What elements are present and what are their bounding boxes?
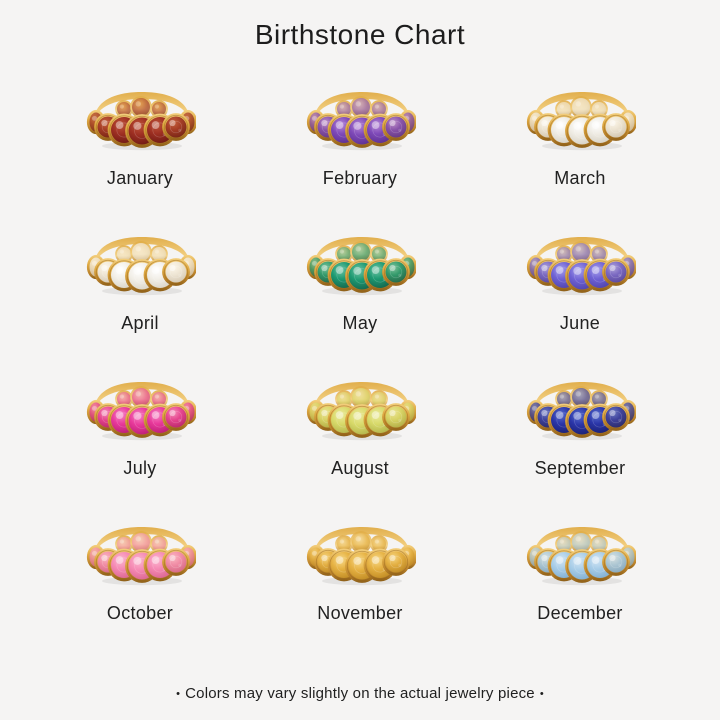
tourmaline-ring-image <box>84 515 196 589</box>
month-label: February <box>323 167 397 189</box>
birthstone-grid: January February <box>30 78 690 658</box>
ruby-ring-image <box>84 370 196 444</box>
birthstone-cell[interactable]: May <box>250 223 470 368</box>
birthstone-cell[interactable]: September <box>470 368 690 513</box>
month-label: October <box>107 602 173 624</box>
birthstone-chart-page: Birthstone Chart Ja <box>0 0 720 720</box>
diamond-ring-image <box>84 225 196 299</box>
emerald-ring-image <box>304 225 416 299</box>
disclaimer-footnote: •Colors may vary slightly on the actual … <box>0 685 720 702</box>
ring-december[interactable] <box>520 513 640 591</box>
sapphire-ring-image <box>524 370 636 444</box>
ring-june[interactable] <box>520 223 640 301</box>
month-label: December <box>537 602 622 624</box>
amethyst-ring-image <box>304 80 416 154</box>
garnet-ring-image <box>84 80 196 154</box>
ring-october[interactable] <box>80 513 200 591</box>
ring-september[interactable] <box>520 368 640 446</box>
ring-august[interactable] <box>300 368 420 446</box>
bullet-icon: • <box>535 688 549 700</box>
blue-topaz-ring-image <box>524 515 636 589</box>
bullet-icon: • <box>171 688 185 700</box>
footnote-text: Colors may vary slightly on the actual j… <box>185 685 535 702</box>
month-label: July <box>123 457 156 479</box>
birthstone-cell[interactable]: October <box>30 513 250 658</box>
birthstone-cell[interactable]: July <box>30 368 250 513</box>
peridot-ring-image <box>304 370 416 444</box>
ring-november[interactable] <box>300 513 420 591</box>
alexandrite-ring-image <box>524 225 636 299</box>
birthstone-cell[interactable]: January <box>30 78 250 223</box>
ring-march[interactable] <box>520 78 640 156</box>
birthstone-cell[interactable]: June <box>470 223 690 368</box>
birthstone-cell[interactable]: April <box>30 223 250 368</box>
month-label: April <box>121 312 159 334</box>
birthstone-cell[interactable]: December <box>470 513 690 658</box>
ring-february[interactable] <box>300 78 420 156</box>
month-label: August <box>331 457 389 479</box>
ring-april[interactable] <box>80 223 200 301</box>
birthstone-cell[interactable]: November <box>250 513 470 658</box>
month-label: September <box>535 457 626 479</box>
ring-july[interactable] <box>80 368 200 446</box>
aquamarine-ring-image <box>524 80 636 154</box>
month-label: June <box>560 312 600 334</box>
birthstone-cell[interactable]: March <box>470 78 690 223</box>
month-label: November <box>317 602 402 624</box>
month-label: March <box>554 167 606 189</box>
citrine-ring-image <box>304 515 416 589</box>
page-title: Birthstone Chart <box>0 0 720 56</box>
ring-january[interactable] <box>80 78 200 156</box>
month-label: January <box>107 167 173 189</box>
birthstone-cell[interactable]: August <box>250 368 470 513</box>
ring-may[interactable] <box>300 223 420 301</box>
birthstone-cell[interactable]: February <box>250 78 470 223</box>
month-label: May <box>343 312 378 334</box>
